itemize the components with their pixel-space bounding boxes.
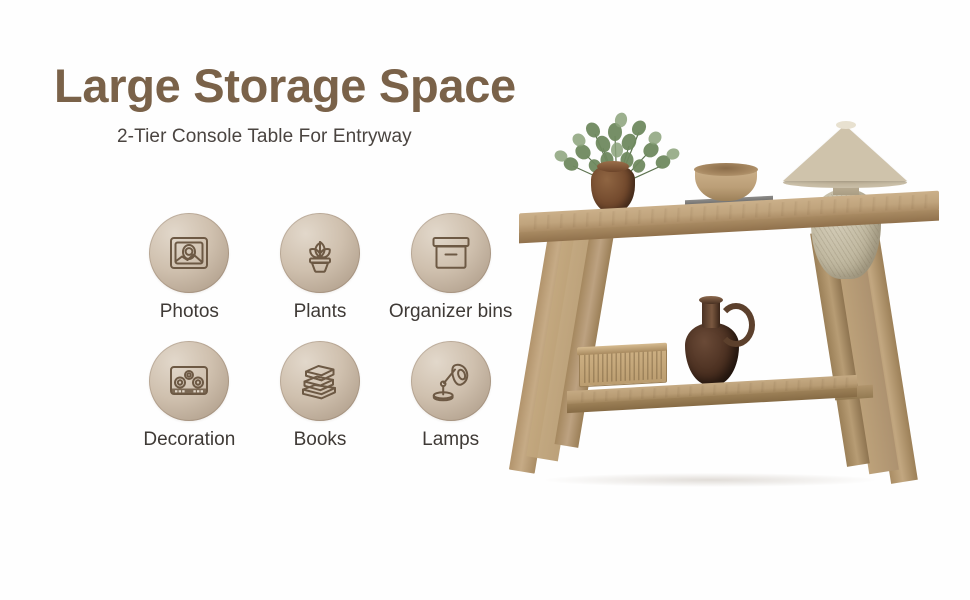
potted-plant-icon [297, 230, 343, 276]
photo-frame-icon [166, 230, 212, 276]
feature-badge [280, 213, 360, 293]
terracotta-vase [591, 165, 635, 213]
feature-label: Plants [294, 301, 347, 323]
storage-box-icon [428, 230, 474, 276]
page-title: Large Storage Space [54, 58, 516, 113]
feature-item-decoration: Decoration [124, 341, 255, 469]
feature-badge [280, 341, 360, 421]
feature-badge [411, 213, 491, 293]
terracotta-vase-rim [597, 161, 629, 172]
feature-item-lamps: Lamps [385, 341, 516, 469]
table-lamp-shade [783, 125, 907, 181]
feature-item-books: Books [255, 341, 386, 469]
feature-label: Books [294, 429, 347, 451]
wooden-bowl-rim [694, 163, 758, 176]
decor-panel-icon [166, 358, 212, 404]
feature-label: Decoration [143, 429, 235, 451]
desk-lamp-icon [427, 357, 475, 405]
feature-grid: Photos Plants [124, 213, 516, 469]
feature-item-organizer-bins: Organizer bins [385, 213, 516, 341]
ceramic-jug-lip [699, 296, 723, 304]
feature-item-photos: Photos [124, 213, 255, 341]
feature-label: Organizer bins [389, 301, 513, 323]
ceramic-jug-handle [717, 303, 755, 347]
book-stack-icon [296, 357, 344, 405]
table-lamp-shade-top [836, 121, 856, 129]
feature-label: Lamps [422, 429, 479, 451]
feature-item-plants: Plants [255, 213, 386, 341]
feature-badge [149, 341, 229, 421]
page-subtitle: 2-Tier Console Table For Entryway [117, 126, 412, 148]
ceramic-jug-neck [702, 300, 720, 328]
feature-badge [411, 341, 491, 421]
feature-label: Photos [160, 301, 219, 323]
floor-shadow [545, 473, 875, 487]
product-photo-console-table [505, 95, 960, 515]
product-banner: Large Storage Space 2-Tier Console Table… [0, 0, 970, 600]
feature-badge [149, 213, 229, 293]
